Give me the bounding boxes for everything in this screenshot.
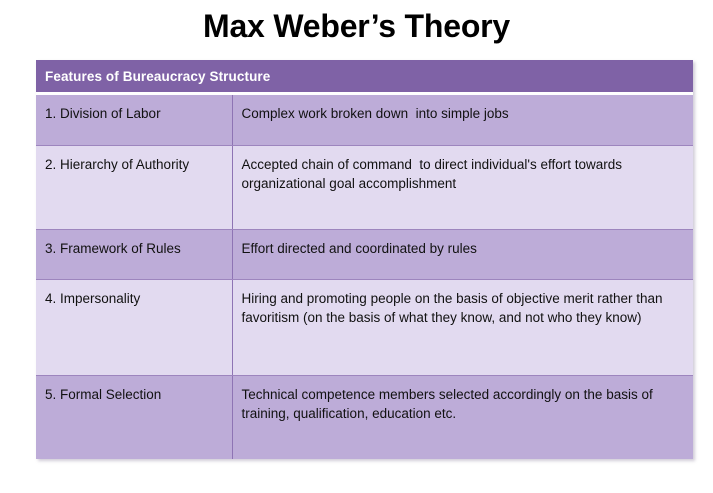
feature-name-text: 5. Formal Selection (45, 385, 222, 404)
feature-name-cell: 3. Framework of Rules (36, 229, 232, 279)
feature-description-cell: Technical competence members selected ac… (232, 375, 693, 459)
feature-name-cell: 1. Division of Labor (36, 95, 232, 145)
feature-name-text: 3. Framework of Rules (45, 239, 222, 258)
table-header-row: Features of Bureaucracy Structure (36, 60, 693, 92)
feature-description-text: Effort directed and coordinated by rules (242, 239, 684, 258)
feature-description-text: Technical competence members selected ac… (242, 385, 684, 423)
table-row: 2. Hierarchy of Authority Accepted chain… (36, 145, 693, 229)
feature-description-cell: Complex work broken down into simple job… (232, 95, 693, 145)
table-header: Features of Bureaucracy Structure (36, 60, 693, 95)
features-table: Features of Bureaucracy Structure 1. Div… (36, 60, 693, 459)
feature-description-text: Complex work broken down into simple job… (242, 104, 684, 123)
feature-name-cell: 5. Formal Selection (36, 375, 232, 459)
feature-description-text: Hiring and promoting people on the basis… (242, 289, 684, 327)
feature-description-cell: Hiring and promoting people on the basis… (232, 279, 693, 375)
table-row: 3. Framework of Rules Effort directed an… (36, 229, 693, 279)
feature-name-cell: 2. Hierarchy of Authority (36, 145, 232, 229)
table-body: 1. Division of Labor Complex work broken… (36, 95, 693, 459)
feature-name-cell: 4. Impersonality (36, 279, 232, 375)
feature-description-cell: Effort directed and coordinated by rules (232, 229, 693, 279)
features-table-container: Features of Bureaucracy Structure 1. Div… (36, 60, 693, 459)
table-row: 5. Formal Selection Technical competence… (36, 375, 693, 459)
feature-name-text: 4. Impersonality (45, 289, 222, 308)
table-row: 4. Impersonality Hiring and promoting pe… (36, 279, 693, 375)
feature-description-text: Accepted chain of command to direct indi… (242, 155, 684, 193)
feature-description-cell: Accepted chain of command to direct indi… (232, 145, 693, 229)
feature-name-text: 2. Hierarchy of Authority (45, 155, 222, 174)
slide-canvas: Max Weber’s Theory Features of Bureaucra… (0, 0, 713, 493)
feature-name-text: 1. Division of Labor (45, 104, 222, 123)
table-title-cell: Features of Bureaucracy Structure (36, 60, 693, 92)
page-title: Max Weber’s Theory (0, 4, 713, 48)
table-row: 1. Division of Labor Complex work broken… (36, 95, 693, 145)
